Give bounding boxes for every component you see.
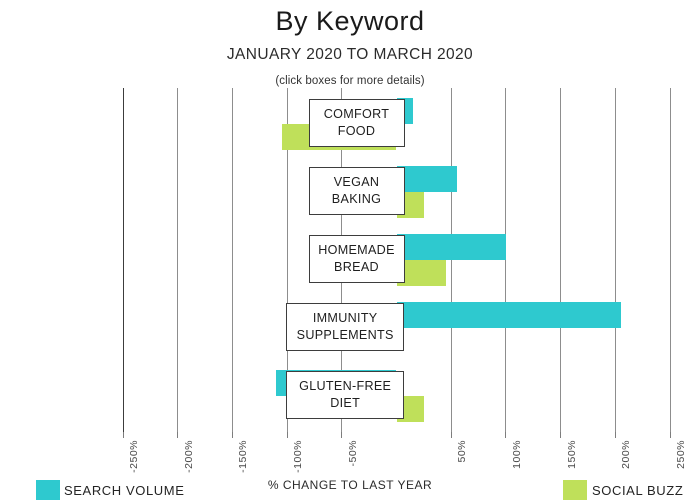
date-range: JANUARY 2020 TO MARCH 2020 <box>0 35 700 63</box>
keyword-box[interactable]: COMFORTFOOD <box>309 99 405 147</box>
legend-label-search-volume: SEARCH VOLUME <box>64 483 185 498</box>
keyword-box[interactable]: VEGANBAKING <box>309 167 405 215</box>
keyword-box[interactable]: IMMUNITYSUPPLEMENTS <box>286 303 405 351</box>
gridline--200 <box>177 88 178 432</box>
tick-label--250: -250% <box>128 440 140 473</box>
keyword-label-line1: GLUTEN-FREE <box>299 378 391 395</box>
keyword-label-line1: VEGAN <box>334 174 380 191</box>
keyword-label-line2: DIET <box>330 395 360 412</box>
keyword-label-line1: COMFORT <box>324 106 390 123</box>
tick-label-150: 150% <box>566 440 578 469</box>
tick-label-50: 50% <box>456 440 468 463</box>
gridline--150 <box>232 88 233 432</box>
chart-header: By Keyword JANUARY 2020 TO MARCH 2020 (c… <box>0 0 700 87</box>
gridline-200 <box>615 88 616 432</box>
keyword-label-line2: FOOD <box>338 123 376 140</box>
keyword-label-line1: IMMUNITY <box>313 310 378 327</box>
tick--200 <box>177 432 178 438</box>
gridline-50 <box>451 88 452 432</box>
gridline-250 <box>670 88 671 432</box>
tick-100 <box>505 432 506 438</box>
tick-label-100: 100% <box>511 440 523 469</box>
keyword-label-line2: BREAD <box>334 259 379 276</box>
keyword-box[interactable]: GLUTEN-FREEDIET <box>286 371 405 419</box>
legend-label-social-buzz: SOCIAL BUZZ <box>592 483 683 498</box>
tick-label--150: -150% <box>237 440 249 473</box>
tick-150 <box>560 432 561 438</box>
tick-label--100: -100% <box>292 440 304 473</box>
gridline-100 <box>505 88 506 432</box>
bar-search-volume[interactable] <box>397 302 621 328</box>
tick--100 <box>287 432 288 438</box>
chart-page: By Keyword JANUARY 2020 TO MARCH 2020 (c… <box>0 0 700 504</box>
keyword-label-line2: SUPPLEMENTS <box>297 327 394 344</box>
gridline--250 <box>123 88 124 432</box>
plot-area: COMFORTFOODVEGANBAKINGHOMEMADEBREADIMMUN… <box>0 88 700 432</box>
tick-label-250: 250% <box>675 440 687 469</box>
tick-label-200: 200% <box>620 440 632 469</box>
keyword-box[interactable]: HOMEMADEBREAD <box>309 235 405 283</box>
legend-swatch-social-buzz <box>563 480 587 500</box>
gridline-150 <box>560 88 561 432</box>
interaction-hint: (click boxes for more details) <box>0 63 700 88</box>
chart-legend: % CHANGE TO LAST YEAR SEARCH VOLUME SOCI… <box>0 478 700 504</box>
tick--50 <box>341 432 342 438</box>
bar-search-volume[interactable] <box>397 166 457 192</box>
tick-label--50: -50% <box>347 440 359 467</box>
bar-search-volume[interactable] <box>397 234 506 260</box>
x-axis-ticks <box>0 432 700 438</box>
legend-swatch-search-volume <box>36 480 60 500</box>
keyword-label-line2: BAKING <box>332 191 381 208</box>
tick--150 <box>232 432 233 438</box>
tick-50 <box>451 432 452 438</box>
tick-label--200: -200% <box>183 440 195 473</box>
keyword-label-line1: HOMEMADE <box>318 242 395 259</box>
page-title: By Keyword <box>0 0 700 35</box>
tick--250 <box>123 432 124 438</box>
tick-250 <box>670 432 671 438</box>
tick-200 <box>615 432 616 438</box>
